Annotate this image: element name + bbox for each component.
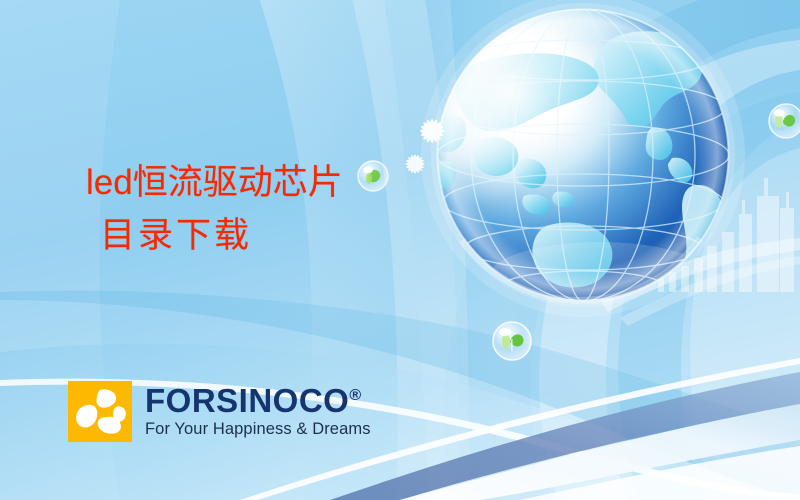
bubble-icon (493, 322, 531, 360)
globe-grid (437, 9, 729, 301)
diagonal-ribbon-white (400, 404, 800, 500)
logo-wordmark: FORSINOCO® For Your Happiness & Dreams (145, 384, 371, 438)
skyline-streak-2 (620, 256, 800, 326)
sparkle-flower-icon (405, 119, 444, 174)
diagonal-ribbon-icon (330, 372, 800, 500)
logo-mark-badge (68, 381, 132, 442)
brand-name: FORSINOCO® (145, 384, 371, 417)
headline-line-1: led恒流驱动芯片 (86, 162, 343, 203)
ribbon-sweep-right-4 (690, 148, 800, 500)
ribbon-arc-3 (420, 0, 520, 500)
brand-tagline: For Your Happiness & Dreams (145, 420, 371, 438)
continents (428, 25, 723, 288)
bubble-icon (769, 104, 800, 138)
brand-name-text: FORSINOCO (145, 382, 349, 419)
skyline-streak (600, 238, 800, 312)
four-petal-flower-icon (68, 381, 132, 442)
ribbon-sweep-right-3 (618, 92, 800, 500)
headline-text: led恒流驱动芯片 目录下载 (86, 162, 343, 257)
ribbon-sweep-right-2 (539, 40, 800, 500)
headline-line-2: 目录下载 (100, 215, 343, 256)
diagonal-ribbon-lower-white (520, 446, 800, 500)
bubble-icon (358, 161, 388, 191)
city-skyline-icon (658, 178, 794, 292)
registered-trademark-icon: ® (349, 387, 361, 404)
promo-banner: led恒流驱动芯片 目录下载 FORSINOCO® (0, 0, 800, 500)
ribbon-sweep-right-1 (444, 0, 800, 500)
company-logo: FORSINOCO® For Your Happiness & Dreams (68, 381, 371, 442)
